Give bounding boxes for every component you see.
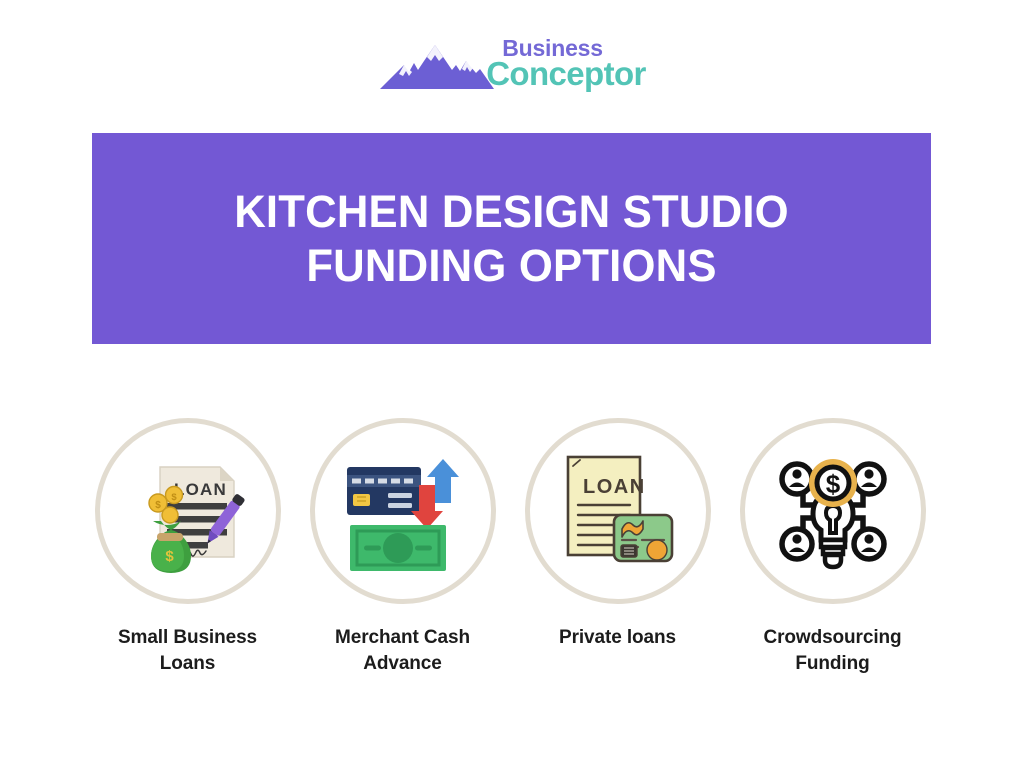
option-card-small-business-loans: LOAN $	[80, 418, 295, 677]
funding-options-row: LOAN $	[80, 418, 960, 708]
svg-text:LOAN: LOAN	[583, 476, 646, 498]
option-label: Small Business Loans	[93, 625, 283, 677]
option-label: Merchant Cash Advance	[308, 625, 498, 677]
credit-card-cash-exchange-icon	[337, 445, 469, 577]
option-label: Crowdsourcing Funding	[738, 625, 928, 677]
mountain-range-icon	[378, 39, 496, 91]
option-icon-circle: LOAN	[525, 418, 711, 604]
option-card-private-loans: LOAN	[510, 418, 725, 651]
page-title: KITCHEN DESIGN STUDIO FUNDING OPTIONS	[130, 185, 893, 291]
option-card-crowdsourcing-funding: $ Crowdsourcing Funding	[725, 418, 940, 677]
loan-document-with-card-icon: LOAN	[552, 445, 684, 577]
svg-text:$: $	[165, 548, 174, 565]
option-icon-circle: LOAN $	[95, 418, 281, 604]
option-icon-circle	[310, 418, 496, 604]
svg-text:$: $	[171, 492, 177, 503]
option-label: Private loans	[523, 625, 713, 651]
svg-text:$: $	[825, 469, 840, 499]
brand-word-conceptor: Conceptor	[486, 57, 646, 90]
crowdfunding-lightbulb-network-icon: $	[769, 447, 897, 575]
svg-text:$: $	[155, 500, 161, 511]
option-icon-circle: $	[740, 418, 926, 604]
brand-logo-inner: Business Conceptor	[378, 37, 646, 91]
title-banner: KITCHEN DESIGN STUDIO FUNDING OPTIONS	[92, 133, 931, 344]
brand-logo: Business Conceptor	[0, 30, 1024, 98]
brand-wordmark: Business Conceptor	[486, 37, 646, 90]
option-card-merchant-cash-advance: Merchant Cash Advance	[295, 418, 510, 677]
loan-document-with-money-bag-icon: LOAN $	[122, 445, 254, 577]
